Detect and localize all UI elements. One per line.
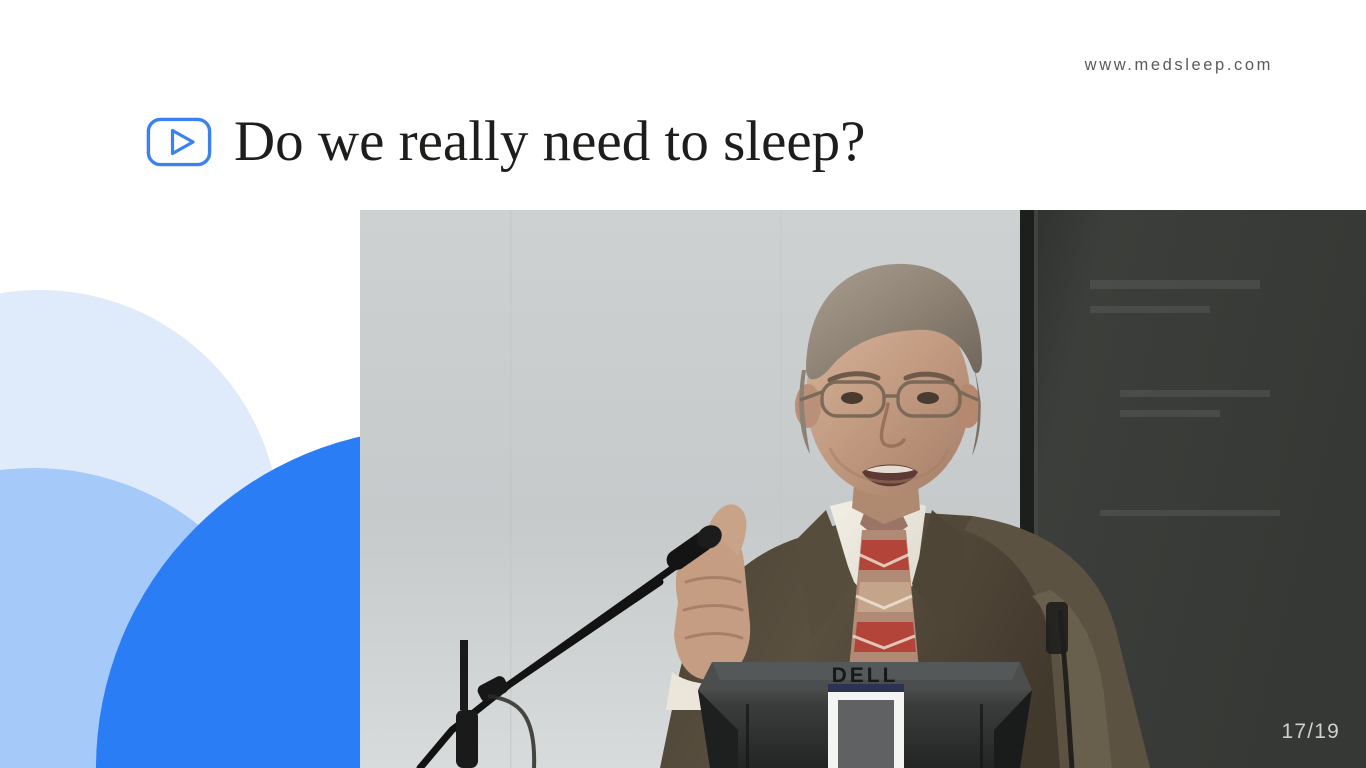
title-row: Do we really need to sleep? xyxy=(146,112,865,172)
decorative-circle-pale-blue xyxy=(0,290,280,768)
page-indicator: 17/19 xyxy=(1281,720,1340,744)
presentation-slide: www.medsleep.com Do we really need to sl… xyxy=(0,0,1366,768)
speaker-photo-image: DELL xyxy=(360,210,1366,768)
speaker-photo: DELL xyxy=(360,210,1366,768)
lectern-brand-label: DELL xyxy=(832,664,899,687)
play-icon[interactable] xyxy=(146,117,212,167)
decorative-circle-mid-blue xyxy=(0,468,300,768)
site-url-label: www.medsleep.com xyxy=(1085,56,1273,75)
page-title: Do we really need to sleep? xyxy=(234,112,865,172)
